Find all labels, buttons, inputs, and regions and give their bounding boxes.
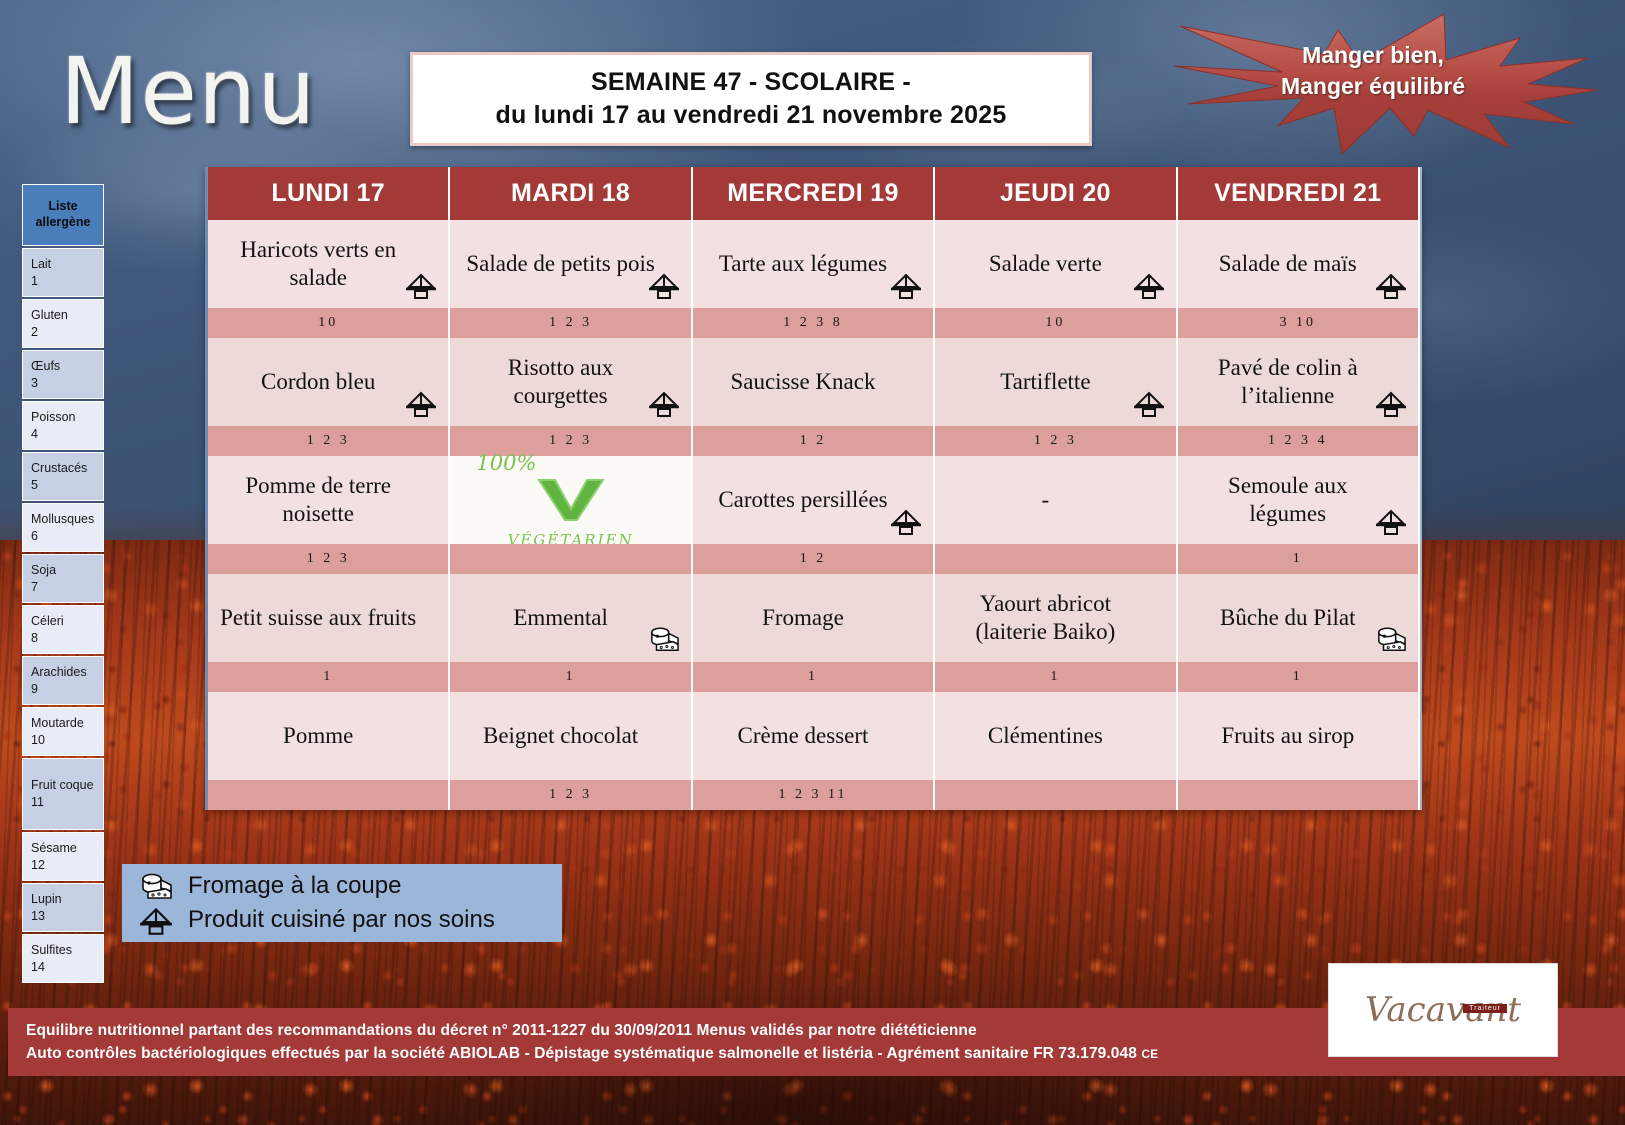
menu-row-fromage: Petit suisse aux fruitsEmmentalFromageYa… xyxy=(208,574,1420,662)
week-title-box: SEMAINE 47 - SCOLAIRE - du lundi 17 au v… xyxy=(410,52,1092,146)
allergen-item-number: 12 xyxy=(31,857,97,874)
allergen-codes-accompagnement-3: 1 2 xyxy=(693,544,935,574)
menu-cell-entree-3[interactable]: Tarte aux légumes xyxy=(693,220,935,308)
week-title-line-2: du lundi 17 au vendredi 21 novembre 2025 xyxy=(496,101,1007,130)
menu-cell-plat-3[interactable]: Saucisse Knack xyxy=(693,338,935,426)
footer-line-2: Auto contrôles bactériologiques effectué… xyxy=(26,1045,1137,1062)
allergen-list-sidebar: Liste allergène Lait1Gluten2Œufs3Poisson… xyxy=(22,184,104,985)
dish-name: Fromage xyxy=(762,604,844,632)
allergen-codes-accompagnement-1: 1 2 3 xyxy=(208,544,450,574)
cooked-icon xyxy=(889,270,923,300)
check-icon xyxy=(529,476,613,529)
day-header-3[interactable]: MERCREDI 19 xyxy=(693,167,935,220)
allergen-item-number: 4 xyxy=(31,426,97,443)
allergen-codes-fromage-1: 1 xyxy=(208,662,450,692)
allergen-item-9: Arachides9 xyxy=(22,656,104,705)
menu-cell-entree-4[interactable]: Salade verte xyxy=(935,220,1177,308)
allergen-item-2: Gluten2 xyxy=(22,299,104,348)
dish-name: Pomme xyxy=(283,722,353,750)
allergen-item-label: Mollusques xyxy=(31,511,97,528)
allergen-codes-entree-3: 1 2 3 8 xyxy=(693,308,935,338)
cooked-icon xyxy=(1132,270,1166,300)
allergen-codes-dessert-1 xyxy=(208,780,450,810)
cheese-icon xyxy=(138,870,174,902)
dish-name: Salade de maïs xyxy=(1219,250,1357,278)
menu-cell-plat-5[interactable]: Pavé de colin à l’italienne xyxy=(1178,338,1420,426)
allergen-item-4: Poisson4 xyxy=(22,401,104,450)
company-logo-name: Vacavant Traiteur xyxy=(1365,993,1521,1027)
day-header-5[interactable]: VENDREDI 21 xyxy=(1178,167,1420,220)
menu-cell-entree-2[interactable]: Salade de petits pois xyxy=(450,220,692,308)
allergen-codes-plat-5: 1 2 3 4 xyxy=(1178,426,1420,456)
cheese-icon xyxy=(647,624,681,654)
allergen-codes-accompagnement-5: 1 xyxy=(1178,544,1420,574)
menu-cell-accompagnement-3[interactable]: Carottes persillées xyxy=(693,456,935,544)
dish-name: Crème dessert xyxy=(738,722,869,750)
day-header-4[interactable]: JEUDI 20 xyxy=(935,167,1177,220)
allergen-codes-row-entree: 101 2 31 2 3 8103 10 xyxy=(208,308,1420,338)
dish-name: Carottes persillées xyxy=(718,486,887,514)
menu-table: LUNDI 17MARDI 18MERCREDI 19JEUDI 20VENDR… xyxy=(205,167,1422,810)
menu-cell-dessert-3[interactable]: Crème dessert xyxy=(693,692,935,780)
allergen-item-number: 14 xyxy=(31,959,97,976)
allergen-item-label: Fruit coque xyxy=(31,777,97,794)
allergen-item-label: Sulfites xyxy=(31,942,97,959)
allergen-item-number: 6 xyxy=(31,528,97,545)
company-logo-subtitle: Traiteur xyxy=(1463,1004,1507,1013)
slogan-text: Manger bien, Manger équilibré xyxy=(1128,40,1618,102)
cooked-icon xyxy=(1132,388,1166,418)
allergen-item-label: Crustacés xyxy=(31,460,97,477)
allergen-item-label: Sésame xyxy=(31,840,97,857)
dish-name: Emmental xyxy=(513,604,608,632)
allergen-item-number: 11 xyxy=(31,794,97,811)
dish-name: Pomme de terre noisette xyxy=(218,472,418,528)
allergen-header-line-1: Liste xyxy=(48,199,77,213)
legend-row-2: Produit cuisiné par nos soins xyxy=(138,904,562,936)
allergen-item-11: Fruit coque11 xyxy=(22,758,104,830)
allergen-codes-accompagnement-4 xyxy=(935,544,1177,574)
allergen-codes-row-plat: 1 2 31 2 31 21 2 31 2 3 4 xyxy=(208,426,1420,456)
allergen-codes-row-accompagnement: 1 2 31 21 xyxy=(208,544,1420,574)
allergen-codes-entree-4: 10 xyxy=(935,308,1177,338)
allergen-codes-row-dessert: 1 2 31 2 3 11 xyxy=(208,780,1420,810)
allergen-item-number: 8 xyxy=(31,630,97,647)
dish-name: Salade de petits pois xyxy=(466,250,654,278)
footer-ce-mark: CE xyxy=(1141,1047,1158,1061)
allergen-item-1: Lait1 xyxy=(22,248,104,297)
cheese-icon xyxy=(1374,624,1408,654)
legend-row-1: Fromage à la coupe xyxy=(138,870,562,902)
menu-cell-dessert-5[interactable]: Fruits au sirop xyxy=(1178,692,1420,780)
allergen-item-number: 5 xyxy=(31,477,97,494)
dish-name: Fruits au sirop xyxy=(1221,722,1354,750)
dish-name: - xyxy=(1042,486,1050,514)
allergen-item-label: Soja xyxy=(31,562,97,579)
legend-label: Produit cuisiné par nos soins xyxy=(188,906,495,934)
allergen-codes-entree-2: 1 2 3 xyxy=(450,308,692,338)
dish-name: Cordon bleu xyxy=(261,368,375,396)
menu-cell-plat-1[interactable]: Cordon bleu xyxy=(208,338,450,426)
legend-box: Fromage à la coupeProduit cuisiné par no… xyxy=(122,864,562,942)
menu-cell-fromage-3[interactable]: Fromage xyxy=(693,574,935,662)
menu-cell-fromage-5[interactable]: Bûche du Pilat xyxy=(1178,574,1420,662)
menu-cell-plat-2[interactable]: Risotto aux courgettes xyxy=(450,338,692,426)
allergen-item-label: Poisson xyxy=(31,409,97,426)
allergen-item-number: 7 xyxy=(31,579,97,596)
allergen-codes-dessert-5 xyxy=(1178,780,1420,810)
allergen-item-label: Céleri xyxy=(31,613,97,630)
allergen-item-number: 9 xyxy=(31,681,97,698)
menu-cell-entree-5[interactable]: Salade de maïs xyxy=(1178,220,1420,308)
allergen-item-label: Lupin xyxy=(31,891,97,908)
allergen-codes-fromage-2: 1 xyxy=(450,662,692,692)
allergen-codes-plat-1: 1 2 3 xyxy=(208,426,450,456)
day-header-2[interactable]: MARDI 18 xyxy=(450,167,692,220)
vegetarian-percent: 100% xyxy=(476,451,536,477)
allergen-item-number: 2 xyxy=(31,324,97,341)
dish-name: Petit suisse aux fruits xyxy=(220,604,416,632)
cooked-icon xyxy=(1374,388,1408,418)
allergen-list-header: Liste allergène xyxy=(22,184,104,246)
cooked-icon xyxy=(1374,506,1408,536)
menu-cell-dessert-4[interactable]: Clémentines xyxy=(935,692,1177,780)
menu-cell-entree-1[interactable]: Haricots verts en salade xyxy=(208,220,450,308)
allergen-codes-fromage-4: 1 xyxy=(935,662,1177,692)
legend-label: Fromage à la coupe xyxy=(188,872,401,900)
cooked-icon xyxy=(404,270,438,300)
allergen-codes-plat-3: 1 2 xyxy=(693,426,935,456)
cooked-icon xyxy=(404,388,438,418)
dish-name: Saucisse Knack xyxy=(730,368,875,396)
dish-name: Risotto aux courgettes xyxy=(460,354,660,410)
allergen-item-5: Crustacés5 xyxy=(22,452,104,501)
allergen-item-label: Œufs xyxy=(31,358,97,375)
allergen-codes-entree-1: 10 xyxy=(208,308,450,338)
allergen-item-14: Sulfites14 xyxy=(22,934,104,983)
dish-name: Bûche du Pilat xyxy=(1220,604,1355,632)
menu-cell-dessert-2[interactable]: Beignet chocolat xyxy=(450,692,692,780)
week-title-line-1: SEMAINE 47 - SCOLAIRE - xyxy=(591,68,911,97)
allergen-item-8: Céleri8 xyxy=(22,605,104,654)
allergen-item-label: Moutarde xyxy=(31,715,97,732)
menu-row-accompagnement: Pomme de terre noisette100%VÉGÉTARIENCar… xyxy=(208,456,1420,544)
dish-name: Pavé de colin à l’italienne xyxy=(1188,354,1388,410)
menu-cell-dessert-1[interactable]: Pomme xyxy=(208,692,450,780)
allergen-item-label: Gluten xyxy=(31,307,97,324)
allergen-item-7: Soja7 xyxy=(22,554,104,603)
dish-name: Semoule aux légumes xyxy=(1188,472,1388,528)
allergen-item-3: Œufs3 xyxy=(22,350,104,399)
menu-cell-accompagnement-5[interactable]: Semoule aux légumes xyxy=(1178,456,1420,544)
cooked-icon xyxy=(138,904,174,936)
allergen-item-label: Lait xyxy=(31,256,97,273)
allergen-codes-fromage-5: 1 xyxy=(1178,662,1420,692)
dish-name: Tarte aux légumes xyxy=(719,250,887,278)
allergen-item-10: Moutarde10 xyxy=(22,707,104,756)
cooked-icon xyxy=(889,506,923,536)
dish-name: Haricots verts en salade xyxy=(218,236,418,292)
menu-cell-fromage-4[interactable]: Yaourt abricot (laiterie Baiko) xyxy=(935,574,1177,662)
allergen-item-number: 13 xyxy=(31,908,97,925)
allergen-item-12: Sésame12 xyxy=(22,832,104,881)
cooked-icon xyxy=(1374,270,1408,300)
slogan-starburst-badge: Manger bien, Manger équilibré xyxy=(1128,2,1618,162)
allergen-item-number: 3 xyxy=(31,375,97,392)
allergen-codes-row-fromage: 11111 xyxy=(208,662,1420,692)
dish-name: Salade verte xyxy=(989,250,1102,278)
page-title: Menu xyxy=(60,38,317,145)
menu-row-plat: Cordon bleuRisotto aux courgettesSauciss… xyxy=(208,338,1420,426)
allergen-codes-accompagnement-2 xyxy=(450,544,692,574)
allergen-item-6: Mollusques6 xyxy=(22,503,104,552)
allergen-item-number: 10 xyxy=(31,732,97,749)
dish-name: Yaourt abricot (laiterie Baiko) xyxy=(945,590,1145,646)
dish-name: Beignet chocolat xyxy=(483,722,638,750)
allergen-codes-entree-5: 3 10 xyxy=(1178,308,1420,338)
allergen-codes-plat-4: 1 2 3 xyxy=(935,426,1177,456)
menu-row-dessert: PommeBeignet chocolatCrème dessertClémen… xyxy=(208,692,1420,780)
vegetarian-logo: 100%VÉGÉTARIEN xyxy=(450,456,690,544)
slogan-line-1: Manger bien, xyxy=(1128,40,1618,71)
menu-cell-accompagnement-1[interactable]: Pomme de terre noisette xyxy=(208,456,450,544)
cooked-icon xyxy=(647,270,681,300)
menu-row-entree: Haricots verts en saladeSalade de petits… xyxy=(208,220,1420,308)
menu-cell-fromage-1[interactable]: Petit suisse aux fruits xyxy=(208,574,450,662)
menu-cell-accompagnement-4[interactable]: - xyxy=(935,456,1177,544)
allergen-header-line-2: allergène xyxy=(36,215,91,229)
allergen-codes-dessert-2: 1 2 3 xyxy=(450,780,692,810)
company-logo-box: Vacavant Traiteur xyxy=(1328,963,1558,1057)
menu-cell-accompagnement-2[interactable]: 100%VÉGÉTARIEN xyxy=(450,456,692,544)
allergen-codes-fromage-3: 1 xyxy=(693,662,935,692)
slogan-line-2: Manger équilibré xyxy=(1128,71,1618,102)
allergen-item-label: Arachides xyxy=(31,664,97,681)
allergen-item-13: Lupin13 xyxy=(22,883,104,932)
dish-name: Clémentines xyxy=(988,722,1103,750)
menu-cell-fromage-2[interactable]: Emmental xyxy=(450,574,692,662)
allergen-item-number: 1 xyxy=(31,273,97,290)
cooked-icon xyxy=(647,388,681,418)
table-header-row: LUNDI 17MARDI 18MERCREDI 19JEUDI 20VENDR… xyxy=(208,167,1420,220)
allergen-codes-dessert-3: 1 2 3 11 xyxy=(693,780,935,810)
day-header-1[interactable]: LUNDI 17 xyxy=(208,167,450,220)
allergen-codes-dessert-4 xyxy=(935,780,1177,810)
menu-cell-plat-4[interactable]: Tartiflette xyxy=(935,338,1177,426)
dish-name: Tartiflette xyxy=(1000,368,1090,396)
